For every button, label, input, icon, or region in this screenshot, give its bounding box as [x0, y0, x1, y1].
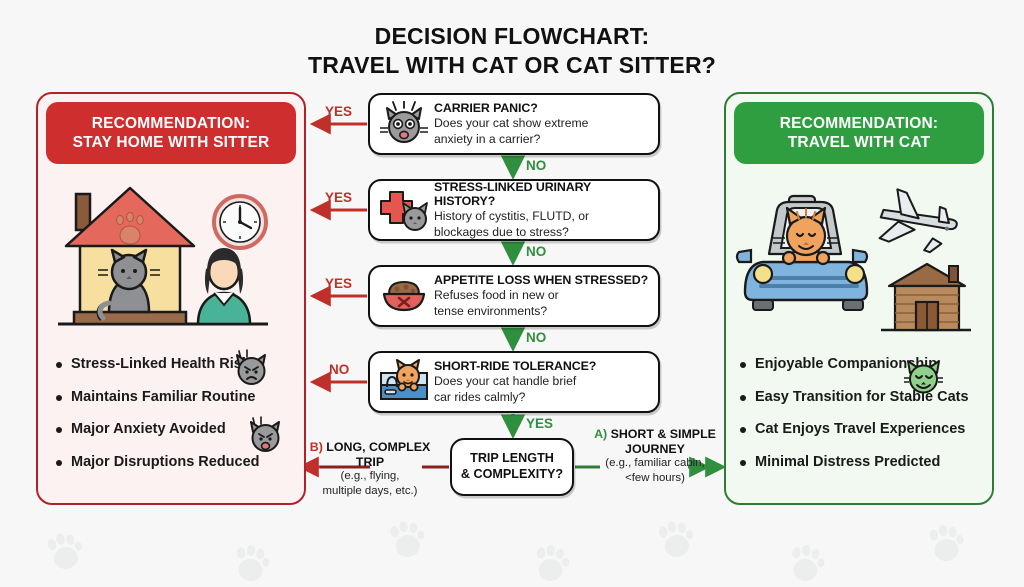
list-item: Enjoyable Companionship	[740, 356, 982, 373]
list-item-label: Major Disruptions Reduced	[71, 454, 260, 471]
list-item-label: Major Anxiety Avoided	[71, 421, 226, 438]
bullet-dot-icon	[740, 362, 746, 368]
decision-detail-line-1: Does your cat show extreme	[434, 116, 650, 131]
edge-label-no-to-short-ride: NO	[526, 330, 546, 345]
list-item-label: Stress-Linked Health Risks	[71, 356, 258, 373]
list-item-label: Maintains Familiar Routine	[71, 389, 256, 406]
decision-box-trip-length[interactable]: TRIP LENGTH & COMPLEXITY?	[450, 438, 574, 496]
edge-label-no-to-urinary-history: NO	[526, 158, 546, 173]
branch-left-sub-2: multiple days, etc.)	[300, 485, 440, 498]
list-item-label: Cat Enjoys Travel Experiences	[755, 421, 965, 438]
edge-label-yes-appetite-loss: YES	[325, 276, 352, 291]
scared-grey-cat-face-icon	[376, 101, 432, 147]
medical-cross-cat-icon	[376, 187, 432, 233]
paw-print-bg-icon	[228, 543, 274, 587]
title-line-2: TRAVEL WITH CAT OR CAT SITTER?	[0, 51, 1024, 80]
edge-label-yes-carrier-panic: YES	[325, 104, 352, 119]
recommendation-panel-stay-home: RECOMMENDATION: STAY HOME WITH SITTER	[36, 92, 306, 505]
bullet-dot-icon	[56, 460, 62, 466]
branch-right-sub-2: <few hours)	[586, 472, 724, 485]
decision-box-stress-linked-urinary-history[interactable]: STRESS-LINKED URINARY HISTORY? History o…	[368, 179, 660, 241]
branch-left-sub-1: (e.g., flying,	[300, 470, 440, 483]
decision-box-short-ride-tolerance[interactable]: SHORT-RIDE TOLERANCE? Does your cat hand…	[368, 351, 660, 413]
right-panel-header-line-1: RECOMMENDATION:	[780, 114, 939, 133]
bullet-dot-icon	[56, 427, 62, 433]
branch-right-sub-1: (e.g., familiar cabin,	[586, 457, 724, 470]
title-line-1: DECISION FLOWCHART:	[375, 23, 650, 49]
right-panel-header: RECOMMENDATION: TRAVEL WITH CAT	[734, 102, 984, 164]
page-title: DECISION FLOWCHART: TRAVEL WITH CAT OR C…	[0, 22, 1024, 80]
angry-cat-face-icon	[248, 416, 284, 459]
branch-left-title: LONG, COMPLEX TRIP	[323, 440, 430, 469]
grumpy-cat-face-icon	[234, 349, 270, 392]
edge-label-yes-to-trip-length: YES	[526, 416, 553, 431]
left-panel-header-line-1: RECOMMENDATION:	[73, 114, 270, 133]
decision-question: APPETITE LOSS WHEN STRESSED?	[434, 273, 650, 287]
stay-home-illustration	[38, 172, 304, 352]
branch-label-short-simple-journey: A) SHORT & SIMPLE JOURNEY (e.g., familia…	[586, 427, 724, 485]
decision-question: STRESS-LINKED URINARY HISTORY?	[434, 180, 650, 208]
branch-right-head: A) SHORT & SIMPLE JOURNEY	[586, 427, 724, 456]
decision-detail-line-2: blockages due to stress?	[434, 225, 650, 240]
branch-left-marker: B)	[310, 440, 323, 454]
decision-question: SHORT-RIDE TOLERANCE?	[434, 359, 650, 373]
decision-detail-line-1: History of cystitis, FLUTD, or	[434, 209, 650, 224]
decision-detail-line-1: Does your cat handle brief	[434, 374, 650, 389]
bullet-dot-icon	[56, 362, 62, 368]
left-panel-header-line-2: STAY HOME WITH SITTER	[73, 133, 270, 152]
travel-with-cat-illustration	[726, 172, 992, 352]
left-panel-header: RECOMMENDATION: STAY HOME WITH SITTER	[46, 102, 296, 164]
cat-in-car-window-icon	[376, 359, 432, 405]
list-item: Minimal Distress Predicted	[740, 454, 982, 471]
decision-box-carrier-panic[interactable]: CARRIER PANIC? Does your cat show extrem…	[368, 93, 660, 155]
branch-left-head: B) LONG, COMPLEX TRIP	[300, 440, 440, 469]
bullet-dot-icon	[740, 395, 746, 401]
decision-detail-line-2: tense environments?	[434, 304, 650, 319]
branch-right-title: SHORT & SIMPLE JOURNEY	[607, 427, 716, 456]
paw-print-bg-icon	[923, 523, 969, 567]
branch-label-long-complex-trip: B) LONG, COMPLEX TRIP (e.g., flying, mul…	[300, 440, 440, 498]
edge-label-no-short-ride: NO	[329, 362, 349, 377]
happy-cat-face-icon	[904, 356, 944, 399]
list-item: Cat Enjoys Travel Experiences	[740, 421, 982, 438]
trip-box-line-2: & COMPLEXITY?	[461, 467, 563, 483]
bullet-dot-icon	[740, 460, 746, 466]
flowchart-canvas: DECISION FLOWCHART: TRAVEL WITH CAT OR C…	[0, 0, 1024, 572]
right-panel-header-line-2: TRAVEL WITH CAT	[780, 133, 939, 152]
list-item: Easy Transition for Stable Cats	[740, 389, 982, 406]
bullet-dot-icon	[740, 427, 746, 433]
bullet-dot-icon	[56, 395, 62, 401]
paw-print-bg-icon	[652, 518, 700, 565]
decision-question: CARRIER PANIC?	[434, 101, 650, 115]
trip-box-line-1: TRIP LENGTH	[470, 451, 554, 467]
recommendation-panel-travel-with-cat: RECOMMENDATION: TRAVEL WITH CAT	[724, 92, 994, 505]
paw-print-bg-icon	[528, 543, 573, 587]
paw-print-bg-icon	[783, 543, 830, 587]
paw-print-bg-icon	[383, 518, 430, 563]
decision-detail-line-1: Refuses food in new or	[434, 288, 650, 303]
edge-label-no-to-appetite-loss: NO	[526, 244, 546, 259]
paw-print-bg-icon	[40, 529, 89, 577]
branch-right-marker: A)	[594, 427, 607, 441]
edge-label-yes-urinary-history: YES	[325, 190, 352, 205]
list-item-label: Minimal Distress Predicted	[755, 454, 940, 471]
travel-benefits-list: Enjoyable Companionship Easy Transition …	[740, 356, 982, 487]
decision-detail-line-2: car rides calmly?	[434, 390, 650, 405]
cat-food-bowl-x-icon	[376, 274, 432, 318]
decision-box-appetite-loss[interactable]: APPETITE LOSS WHEN STRESSED? Refuses foo…	[368, 265, 660, 327]
decision-detail-line-2: anxiety in a carrier?	[434, 132, 650, 147]
